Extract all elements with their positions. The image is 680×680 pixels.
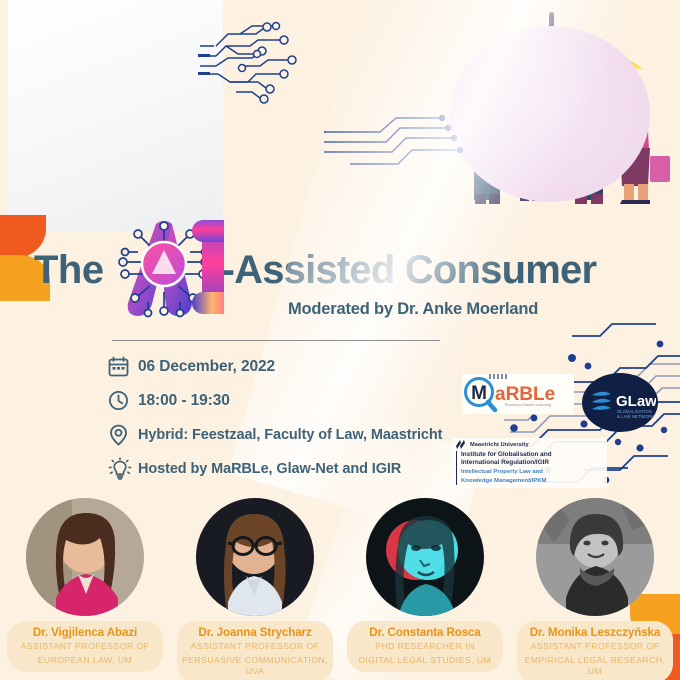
speaker-name-pill: Dr. Constanta Rosca PHD RESEARCHER IN DI… — [347, 621, 503, 672]
um-institute-block: Institute for Globalisation and Internat… — [456, 451, 603, 485]
um-star-icon — [456, 440, 467, 449]
speaker-card: Dr. Monika Leszczyńska ASSISTANT PROFESS… — [510, 498, 680, 680]
speaker-card: Dr. Vigjilenca Abazi ASSISTANT PROFESSOR… — [0, 498, 170, 672]
event-poster: The — [0, 0, 680, 680]
title-prefix: The — [34, 248, 104, 293]
marble-logo: M aRBLe Research-Based Learning — [462, 374, 574, 414]
speaker-name: Dr. Monika Leszczyńska — [521, 626, 669, 639]
speaker-name-pill: Dr. Vigjilenca Abazi ASSISTANT PROFESSOR… — [7, 621, 163, 672]
um-institute-line4: Knowledge Management/IPKM — [461, 478, 603, 486]
speaker-role-line2: EMPIRICAL LEGAL RESEARCH, UM — [521, 655, 669, 678]
ai-gradient-logo-icon — [114, 218, 224, 326]
speaker-role-line1: PHD RESEARCHER IN — [351, 641, 499, 652]
title-suffix: -Assisted Consumer — [222, 248, 597, 293]
hero-imagery-band — [0, 0, 680, 232]
speaker-name: Dr. Joanna Strycharz — [181, 626, 329, 639]
speaker-name-pill: Dr. Monika Leszczyńska ASSISTANT PROFESS… — [517, 621, 673, 680]
svg-text:& LAW NETWORK: & LAW NETWORK — [617, 414, 654, 419]
detail-host-text: Hosted by MaRBLe, Glaw-Net and IGIR — [138, 461, 401, 477]
clock-icon — [108, 388, 138, 414]
speakers-row: Dr. Vigjilenca Abazi ASSISTANT PROFESSOR… — [0, 498, 680, 680]
speaker-name-pill: Dr. Joanna Strycharz ASSISTANT PROFESSOR… — [177, 621, 333, 680]
glaw-logo: GLaw GLOBALISATION & LAW NETWORK — [582, 373, 658, 432]
robot-head-image — [8, 0, 223, 232]
speaker-card: Dr. Constanta Rosca PHD RESEARCHER IN DI… — [340, 498, 510, 672]
avatar — [196, 498, 314, 616]
detail-date-text: 06 December, 2022 — [138, 358, 275, 376]
um-institute-line1: Institute for Globalisation and — [461, 451, 603, 459]
speaker-name: Dr. Constanta Rosca — [351, 626, 499, 639]
detail-location-text: Hybrid: Feestzaal, Faculty of Law, Maast… — [138, 427, 442, 443]
calendar-icon — [108, 354, 138, 380]
svg-text:GLaw: GLaw — [616, 393, 656, 410]
svg-text:Research-Based Learning: Research-Based Learning — [505, 402, 551, 407]
speaker-role-line2: DIGITAL LEGAL STUDIES, UM — [351, 655, 499, 666]
svg-text:M: M — [471, 383, 487, 404]
family-umbrella-image — [432, 8, 672, 206]
avatar — [536, 498, 654, 616]
poster-title: The — [34, 238, 664, 302]
avatar — [366, 498, 484, 616]
speaker-role-line2: EUROPEAN LAW, UM — [11, 655, 159, 666]
speaker-role-line2: PERSUASIVE COMMUNICATION, UVA — [181, 655, 329, 678]
detail-time-text: 18:00 - 19:30 — [138, 392, 230, 410]
speaker-role-line1: ASSISTANT PROFESSOR OF — [181, 641, 329, 652]
um-university-name: Maastricht University — [470, 442, 529, 448]
speaker-name: Dr. Vigjilenca Abazi — [11, 626, 159, 639]
um-institute-line2: International Regulation/IGIR — [461, 459, 603, 467]
location-pin-icon — [108, 422, 138, 448]
um-institute-line3: Intellectual Property Law and — [461, 469, 603, 477]
lightbulb-icon — [108, 456, 138, 482]
avatar — [26, 498, 144, 616]
section-divider — [112, 340, 440, 341]
moderator-label: Moderated by Dr. Anke Moerland — [288, 300, 538, 319]
speaker-card: Dr. Joanna Strycharz ASSISTANT PROFESSOR… — [170, 498, 340, 680]
speaker-role-line1: ASSISTANT PROFESSOR OF — [521, 641, 669, 652]
maastricht-university-logo: Maastricht University Institute for Glob… — [452, 438, 607, 488]
speaker-role-line1: ASSISTANT PROFESSOR OF — [11, 641, 159, 652]
